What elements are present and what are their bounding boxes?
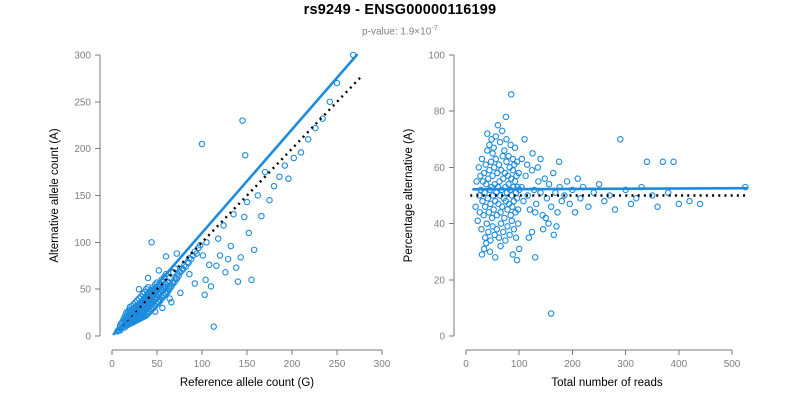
data-point <box>509 92 514 97</box>
x-tick-label: 0 <box>463 359 469 370</box>
data-point <box>267 197 272 202</box>
data-point <box>559 198 564 203</box>
data-point <box>493 255 498 260</box>
figure-root: rs9249 - ENSG00000116199 p-value: 1.9×10… <box>0 0 800 400</box>
data-point <box>214 263 219 268</box>
data-point <box>327 99 332 104</box>
data-point <box>521 198 526 203</box>
data-point <box>502 148 507 153</box>
data-point <box>203 277 208 282</box>
data-point <box>473 204 478 209</box>
data-point <box>567 201 572 206</box>
data-point <box>529 229 534 234</box>
panel-left: 050100150200250300050100150200250300Refe… <box>49 51 391 390</box>
data-point <box>485 131 490 136</box>
data-point <box>207 262 212 267</box>
data-point <box>538 156 543 161</box>
data-point <box>200 253 205 258</box>
data-point <box>532 255 537 260</box>
data-point <box>252 247 257 252</box>
data-point <box>534 201 539 206</box>
y-tick-label: 20 <box>434 275 446 286</box>
data-point <box>519 156 524 161</box>
data-point <box>187 271 192 276</box>
data-point <box>282 163 287 168</box>
data-point <box>509 218 514 223</box>
y-axis-title: Alternative allele count (A) <box>49 128 61 262</box>
x-tick-label: 500 <box>724 359 741 370</box>
data-point <box>536 179 541 184</box>
data-point <box>277 174 282 179</box>
data-point <box>482 204 487 209</box>
data-point <box>199 141 204 146</box>
data-point <box>628 201 633 206</box>
regression-line <box>473 188 746 189</box>
data-point <box>479 227 484 232</box>
data-point <box>262 169 267 174</box>
data-point <box>503 114 508 119</box>
data-point <box>217 253 222 258</box>
data-point <box>491 207 496 212</box>
x-axis-title: Total number of reads <box>551 377 662 389</box>
data-point <box>163 254 168 259</box>
data-point <box>487 249 492 254</box>
data-point <box>497 179 502 184</box>
y-tick-label: 50 <box>80 285 92 296</box>
data-point <box>504 137 509 142</box>
data-point <box>136 286 141 291</box>
data-points <box>473 92 748 317</box>
data-point <box>514 257 519 262</box>
data-point <box>243 153 248 158</box>
data-point <box>313 125 318 130</box>
y-tick-label: 100 <box>428 51 445 62</box>
data-point <box>486 229 491 234</box>
data-point <box>556 159 561 164</box>
data-point <box>483 162 488 167</box>
x-tick-label: 200 <box>564 359 581 370</box>
x-tick-label: 300 <box>617 359 634 370</box>
y-tick-label: 0 <box>85 332 91 343</box>
data-point <box>493 156 498 161</box>
data-point <box>223 270 228 275</box>
x-tick-label: 100 <box>194 359 211 370</box>
data-point <box>479 156 484 161</box>
data-point <box>202 292 207 297</box>
data-point <box>596 182 601 187</box>
data-point <box>502 215 507 220</box>
data-point <box>238 255 243 260</box>
data-point <box>524 162 529 167</box>
data-point <box>498 221 503 226</box>
data-point <box>500 153 505 158</box>
data-point <box>475 218 480 223</box>
y-tick-label: 80 <box>434 107 446 118</box>
x-tick-label: 250 <box>329 359 346 370</box>
data-point <box>225 256 230 261</box>
data-point <box>551 232 556 237</box>
x-tick-label: 150 <box>239 359 256 370</box>
x-tick-label: 100 <box>511 359 528 370</box>
data-point <box>246 230 251 235</box>
data-point <box>484 221 489 226</box>
data-point <box>498 243 503 248</box>
y-tick-label: 200 <box>74 144 91 155</box>
data-point <box>530 151 535 156</box>
data-point <box>676 201 681 206</box>
data-point <box>178 290 183 295</box>
data-point <box>271 183 276 188</box>
scatter-plots-canvas: 050100150200250300050100150200250300Refe… <box>0 0 800 400</box>
data-point <box>259 213 264 218</box>
data-point <box>488 238 493 243</box>
data-point <box>480 198 485 203</box>
data-point <box>555 210 560 215</box>
data-point <box>517 246 522 251</box>
y-tick-label: 150 <box>74 191 91 202</box>
data-point <box>192 281 197 286</box>
data-point <box>495 170 500 175</box>
data-point <box>644 159 649 164</box>
data-point <box>526 235 531 240</box>
data-point <box>529 168 534 173</box>
data-point <box>513 235 518 240</box>
data-point <box>496 235 501 240</box>
data-point <box>495 123 500 128</box>
data-point <box>478 173 483 178</box>
data-point <box>242 214 247 219</box>
data-point <box>491 145 496 150</box>
data-point <box>497 139 502 144</box>
data-point <box>512 145 517 150</box>
data-point <box>498 210 503 215</box>
data-point <box>551 170 556 175</box>
data-point <box>476 165 481 170</box>
data-point <box>499 128 504 133</box>
data-point <box>174 251 179 256</box>
data-point <box>494 227 499 232</box>
data-point <box>523 173 528 178</box>
data-point <box>493 134 498 139</box>
data-point <box>542 176 547 181</box>
data-point <box>479 252 484 257</box>
data-point <box>655 204 660 209</box>
data-point <box>522 137 527 142</box>
data-point <box>687 198 692 203</box>
x-tick-label: 50 <box>151 359 163 370</box>
data-point <box>602 198 607 203</box>
y-tick-label: 0 <box>439 332 445 343</box>
data-point <box>546 221 551 226</box>
data-point <box>231 212 236 217</box>
data-point <box>510 252 515 257</box>
data-point <box>511 227 516 232</box>
data-point <box>481 170 486 175</box>
data-point <box>156 268 161 273</box>
data-point <box>255 193 260 198</box>
data-point <box>221 223 226 228</box>
data-point <box>564 179 569 184</box>
data-point <box>512 179 517 184</box>
data-point <box>145 275 150 280</box>
x-tick-label: 400 <box>670 359 687 370</box>
data-point <box>498 168 503 173</box>
regression-line <box>114 55 357 334</box>
data-point <box>477 210 482 215</box>
data-point <box>216 236 221 241</box>
data-point <box>572 210 577 215</box>
data-point <box>548 204 553 209</box>
data-point <box>490 151 495 156</box>
data-point <box>494 212 499 217</box>
y-tick-label: 250 <box>74 97 91 108</box>
data-point <box>548 311 553 316</box>
data-point <box>586 204 591 209</box>
data-point <box>697 201 702 206</box>
data-point <box>291 155 296 160</box>
data-point <box>240 118 245 123</box>
data-point <box>286 176 291 181</box>
data-point <box>485 148 490 153</box>
data-point <box>618 137 623 142</box>
data-point <box>235 279 240 284</box>
panel-right: 0204060801000100200300400500Total number… <box>403 51 748 390</box>
data-point <box>532 210 537 215</box>
data-point <box>481 212 486 217</box>
data-point <box>499 204 504 209</box>
data-point <box>228 243 233 248</box>
y-tick-label: 60 <box>434 163 446 174</box>
data-point <box>527 207 532 212</box>
y-tick-label: 40 <box>434 219 446 230</box>
data-point <box>507 232 512 237</box>
x-tick-label: 200 <box>284 359 301 370</box>
data-point <box>298 150 303 155</box>
x-tick-label: 0 <box>109 359 115 370</box>
data-point <box>554 224 559 229</box>
data-point <box>481 246 486 251</box>
data-point <box>496 162 501 167</box>
data-point <box>208 284 213 289</box>
data-point <box>211 324 216 329</box>
data-point <box>505 224 510 229</box>
y-tick-label: 300 <box>74 51 91 62</box>
data-point <box>306 137 311 142</box>
data-point <box>612 207 617 212</box>
data-point <box>660 159 665 164</box>
data-point <box>160 305 165 310</box>
data-point <box>149 240 154 245</box>
data-point <box>575 176 580 181</box>
data-point <box>249 277 254 282</box>
data-point <box>546 182 551 187</box>
y-tick-label: 100 <box>74 238 91 249</box>
x-axis-title: Reference allele count (G) <box>180 377 314 389</box>
x-tick-label: 300 <box>374 359 391 370</box>
data-point <box>504 159 509 164</box>
data-point <box>234 265 239 270</box>
data-point <box>515 221 520 226</box>
data-point <box>474 179 479 184</box>
y-axis-title: Percentage alternative (A) <box>403 129 415 263</box>
data-point <box>244 199 249 204</box>
data-point <box>540 227 545 232</box>
data-point <box>482 235 487 240</box>
data-point <box>535 165 540 170</box>
data-point <box>503 238 508 243</box>
data-point <box>501 229 506 234</box>
data-point <box>671 159 676 164</box>
